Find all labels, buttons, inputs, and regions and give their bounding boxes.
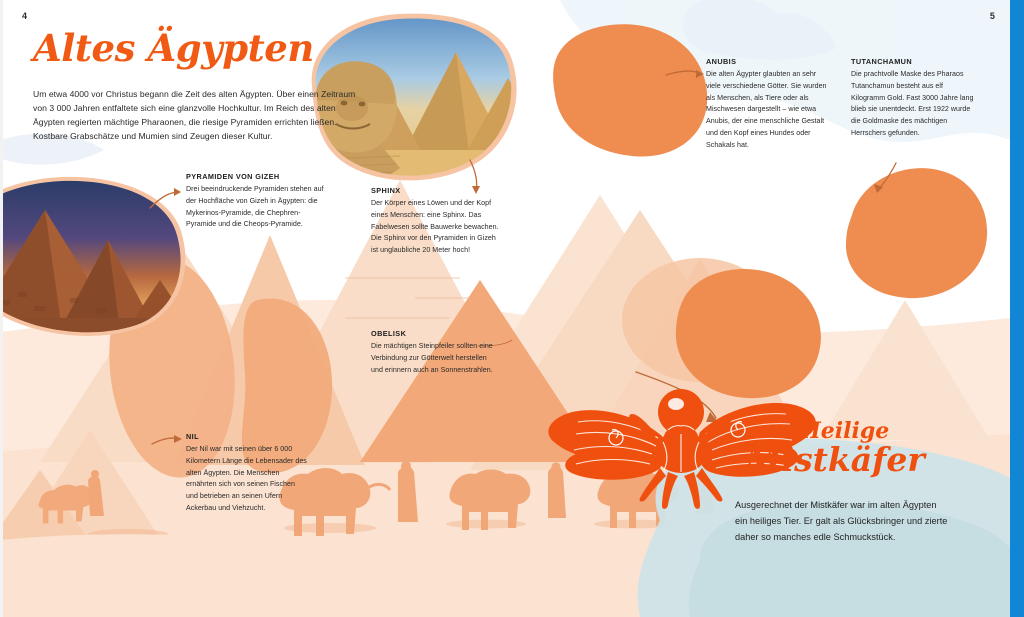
callout-title: SPHINX xyxy=(371,186,504,195)
callout-anubis: ANUBIS Die alten Ägypter glaubten an seh… xyxy=(706,57,828,151)
page-number-left: 4 xyxy=(22,11,27,21)
callout-obelisk: OBELISK Die mächtigen Steinpfeiler sollt… xyxy=(371,329,493,376)
callout-nil: NIL Der Nil war mit seinen über 6 000 Ki… xyxy=(186,432,308,515)
intro-paragraph: Um etwa 4000 vor Christus begann die Zei… xyxy=(33,88,363,144)
callout-pyramiden-von-gizeh: PYRAMIDEN VON GIZEH Drei beeindruckende … xyxy=(186,172,328,231)
callout-tutanchamun: TUTANCHAMUN Die prachtvolle Maske des Ph… xyxy=(851,57,975,140)
scarab-title-line2: Mistkäfer xyxy=(745,443,925,476)
callout-body: Die mächtigen Steinpfeiler sollten eine … xyxy=(371,341,493,376)
scarab-title-line1: Heilige xyxy=(800,420,889,442)
page-left-edge xyxy=(0,0,3,617)
page-title: Altes Ägypten xyxy=(33,30,314,67)
callout-body: Drei beeindruckende Pyramiden stehen auf… xyxy=(186,184,328,231)
scarab-body-text: Ausgerechnet der Mistkäfer war im alten … xyxy=(735,498,950,545)
callout-body: Die alten Ägypter glaubten an sehr viele… xyxy=(706,69,828,151)
callout-title: ANUBIS xyxy=(706,57,828,66)
blue-side-rail xyxy=(1010,0,1024,617)
callout-body: Der Körper eines Löwen und der Kopf eine… xyxy=(371,198,504,257)
callout-title: PYRAMIDEN VON GIZEH xyxy=(186,172,328,181)
callout-sphinx: SPHINX Der Körper eines Löwen und der Ko… xyxy=(371,186,504,257)
callout-title: OBELISK xyxy=(371,329,493,338)
callout-body: Der Nil war mit seinen über 6 000 Kilome… xyxy=(186,444,308,515)
callout-title: NIL xyxy=(186,432,308,441)
magazine-spread: 4 5 Altes Ägypten Um etwa 4000 vor Chris… xyxy=(0,0,1024,617)
page-number-right: 5 xyxy=(990,11,995,21)
callout-body: Die prachtvolle Maske des Pharaos Tutanc… xyxy=(851,69,975,140)
callout-title: TUTANCHAMUN xyxy=(851,57,975,66)
